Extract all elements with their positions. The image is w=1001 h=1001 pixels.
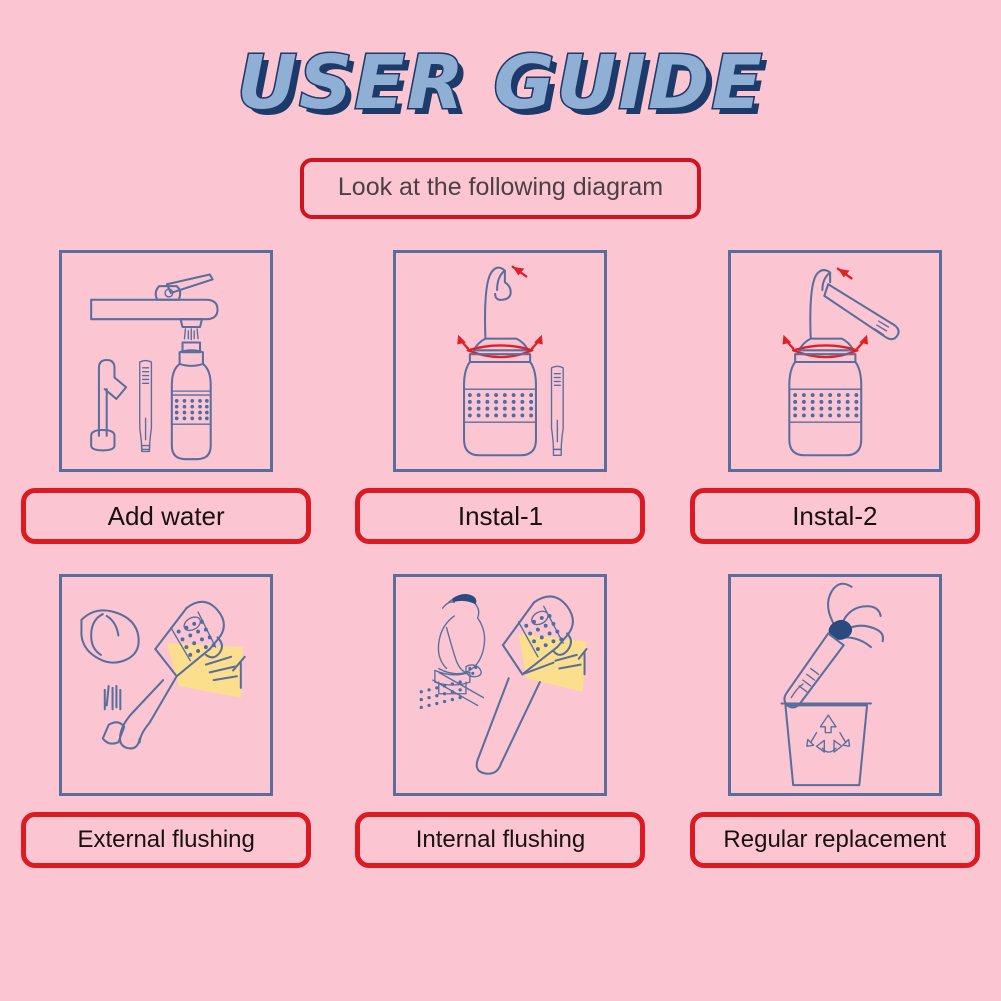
steps-grid: Add water [18, 250, 983, 868]
step-card-2: Instal-1 [352, 250, 648, 544]
step-label-6: Regular replacement [690, 812, 980, 868]
page-title-area: USER GUIDE USER GUIDE [0, 46, 1001, 136]
step-label-2: Instal-1 [355, 488, 645, 544]
step-card-6: Regular replacement [687, 574, 983, 868]
subtitle-area: Look at the following diagram [0, 158, 1001, 219]
step-label-1: Add water [21, 488, 311, 544]
step-card-4: External flushing [18, 574, 314, 868]
step-label-3: Instal-2 [690, 488, 980, 544]
step-label-4: External flushing [21, 812, 311, 868]
step-card-1: Add water [18, 250, 314, 544]
step-illustration-1 [59, 250, 273, 472]
step-illustration-3 [728, 250, 942, 472]
step-label-5: Internal flushing [355, 812, 645, 868]
step-illustration-2 [393, 250, 607, 472]
subtitle-banner: Look at the following diagram [300, 158, 701, 219]
step-illustration-6 [728, 574, 942, 796]
page-title: USER GUIDE USER GUIDE [237, 46, 764, 120]
step-card-5: Internal flushing [352, 574, 648, 868]
step-card-3: Instal-2 [687, 250, 983, 544]
page-title-text: USER GUIDE [237, 40, 764, 126]
step-illustration-4 [59, 574, 273, 796]
step-illustration-5 [393, 574, 607, 796]
